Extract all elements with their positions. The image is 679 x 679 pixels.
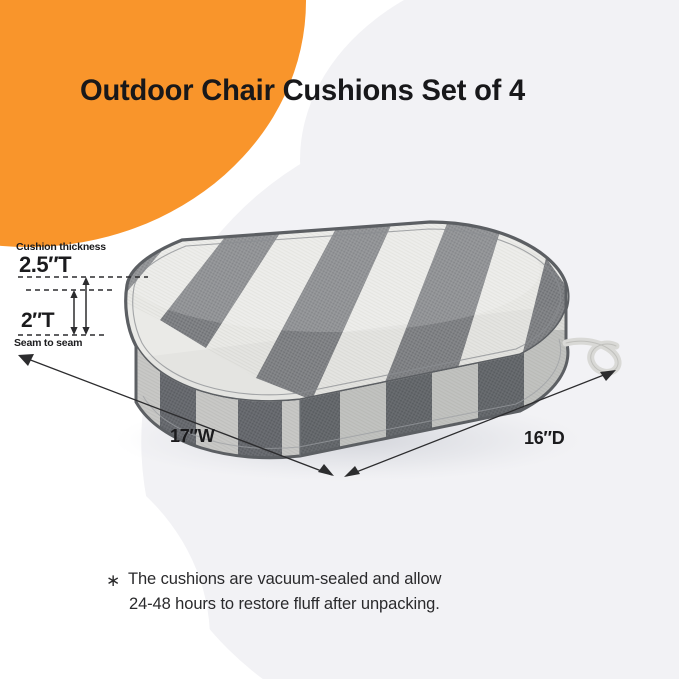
arrow-2-seam-to-seam [70, 290, 77, 335]
footnote: ∗ The cushions are vacuum-sealed and all… [128, 567, 441, 617]
footnote-line-2: 24-48 hours to restore fluff after unpac… [128, 592, 441, 617]
width-label: 17″W [170, 426, 214, 447]
depth-label: 16″D [524, 428, 564, 449]
seam-to-seam-caption: Seam to seam [14, 337, 82, 349]
product-infographic: Outdoor Chair Cushions Set of 4 [0, 0, 679, 679]
footnote-line-1: The cushions are vacuum-sealed and allow [128, 570, 441, 588]
footnote-marker: ∗ [106, 568, 120, 594]
thickness-value-label: 2.5″T [19, 252, 71, 278]
arrow-2p5-thickness [82, 277, 89, 335]
cushion-tie-loop [566, 341, 618, 372]
seam-value-label: 2″T [21, 309, 54, 333]
